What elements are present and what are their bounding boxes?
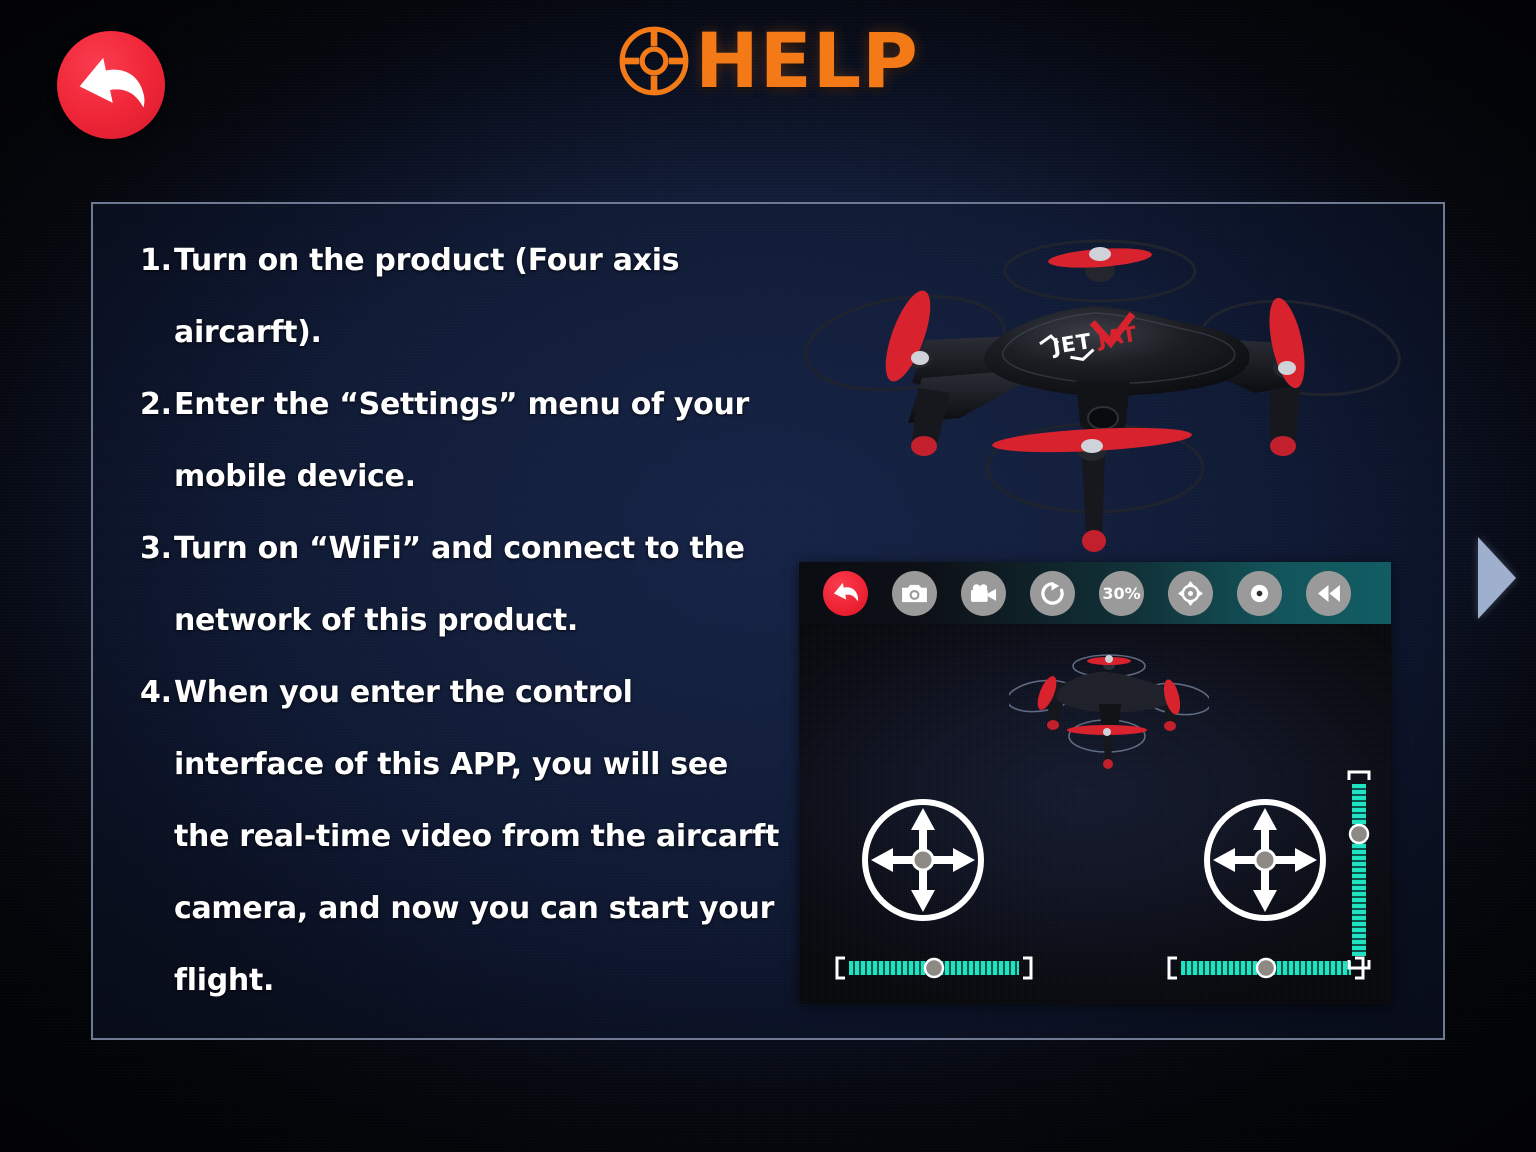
trim-slider-left[interactable] (835, 956, 1033, 980)
list-item: 3. Turn on “WiFi” and connect to the net… (140, 513, 790, 657)
joystick-left[interactable] (857, 794, 989, 926)
camera-icon[interactable] (892, 571, 937, 616)
camera-glyph (902, 583, 927, 604)
next-page-arrow[interactable] (1478, 537, 1516, 619)
list-item: 2. Enter the “Settings” menu of your mob… (140, 369, 790, 513)
flip-rotate-icon[interactable] (1030, 571, 1075, 616)
flip-rotate-glyph (1040, 581, 1065, 606)
speed-percent-label: 30% (1102, 584, 1140, 603)
app-screenshot-preview: 30% (799, 562, 1391, 1004)
list-item: 4. When you enter the control interface … (140, 657, 790, 1017)
list-item-number: 1. (140, 225, 174, 297)
list-item-text: When you enter the control interface of … (174, 657, 790, 1017)
list-item-text: Enter the “Settings” menu of your mobile… (174, 369, 790, 513)
rewind-glyph (1316, 584, 1341, 603)
live-video-area (799, 624, 1391, 1004)
list-item-text: Turn on the product (Four axis aircarft)… (174, 225, 790, 369)
trim-slider-vertical[interactable] (1347, 770, 1371, 970)
lifebuoy-icon (617, 24, 691, 98)
page-title: HELP (0, 24, 1536, 98)
video-icon[interactable] (961, 571, 1006, 616)
rewind-icon[interactable] (1306, 571, 1351, 616)
list-item-text: Turn on “WiFi” and connect to the networ… (174, 513, 790, 657)
app-toolbar: 30% (799, 562, 1391, 624)
list-item-number: 2. (140, 369, 174, 441)
quadcopter-drone-live-view (1009, 644, 1209, 769)
quadcopter-drone-photo: JET JAT (800, 218, 1404, 563)
speed-percent-button[interactable]: 30% (1099, 571, 1144, 616)
back-arrow-glyph (833, 581, 859, 605)
gyro-calibrate-icon[interactable] (1168, 571, 1213, 616)
list-item-number: 3. (140, 513, 174, 585)
headless-eye-glyph (1248, 582, 1271, 605)
headless-eye-icon[interactable] (1237, 571, 1282, 616)
gyro-calibrate-glyph (1178, 581, 1203, 606)
list-item: 1. Turn on the product (Four axis aircar… (140, 225, 790, 369)
back-arrow-icon[interactable] (823, 571, 868, 616)
list-item-number: 4. (140, 657, 174, 729)
joystick-right[interactable] (1199, 794, 1331, 926)
page-title-text: HELP (695, 24, 919, 98)
video-glyph (971, 584, 997, 603)
help-screen: HELP 1. Turn on the product (Four axis a… (0, 0, 1536, 1152)
instruction-list: 1. Turn on the product (Four axis aircar… (140, 225, 790, 1017)
trim-slider-right[interactable] (1167, 956, 1365, 980)
